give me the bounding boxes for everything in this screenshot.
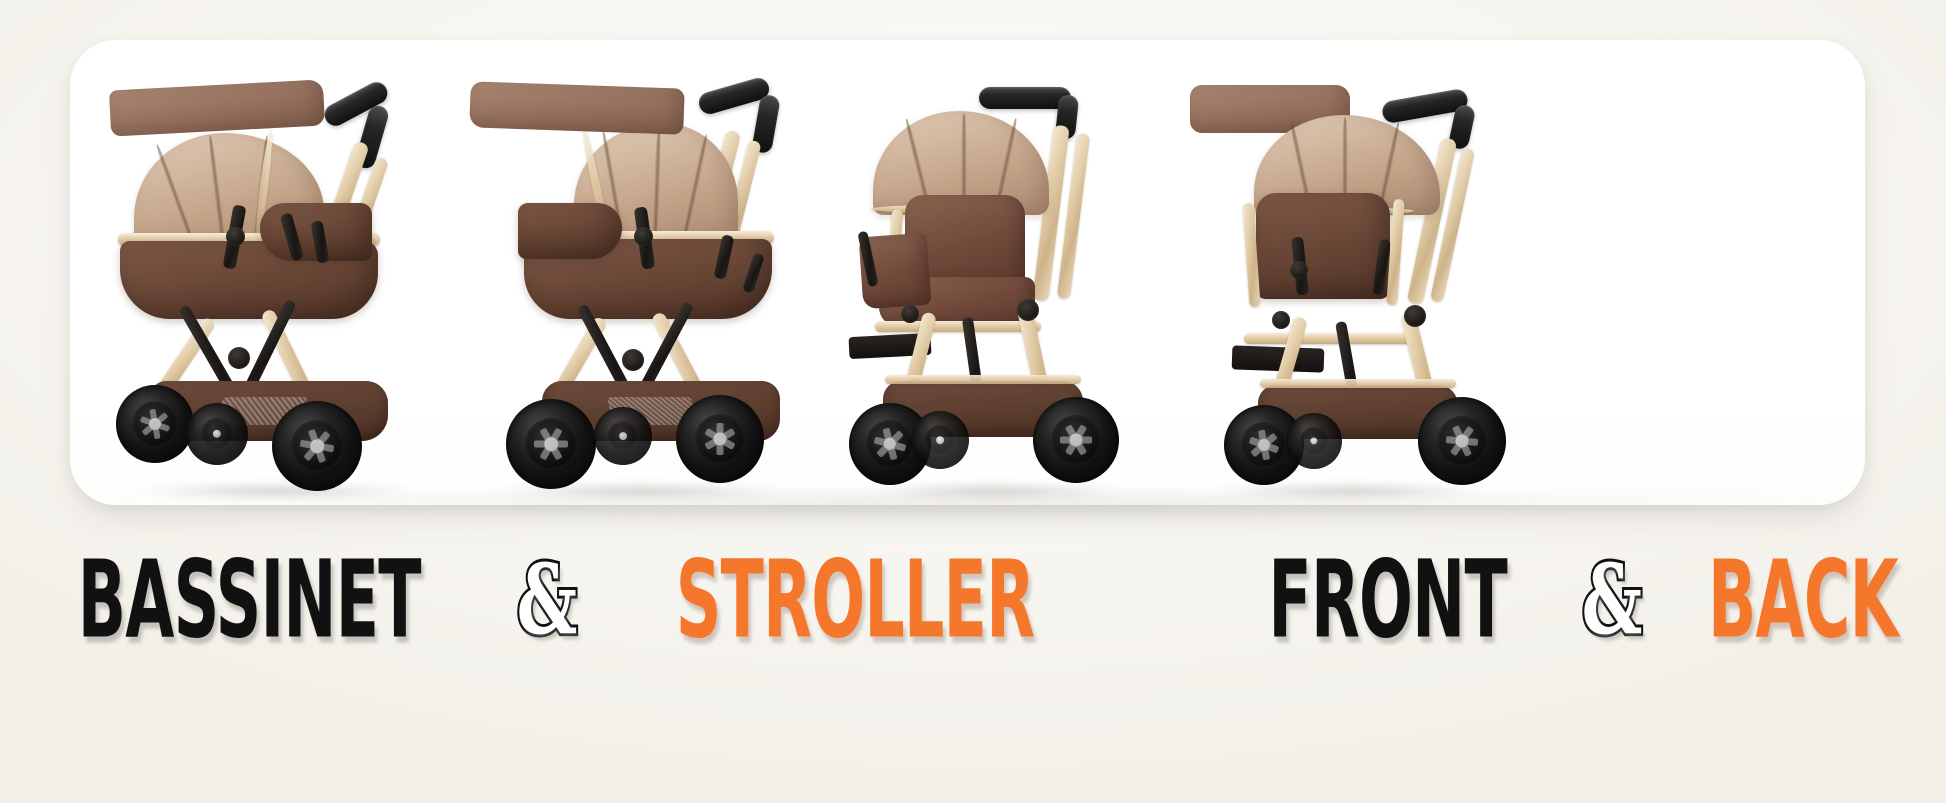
caption-ampersand: & <box>1582 543 1643 656</box>
floor-shadow <box>1216 483 1485 499</box>
wheel-rear-far <box>186 403 248 465</box>
caption-ampersand: & <box>516 543 577 656</box>
seat-trim <box>1244 333 1414 344</box>
stroller-view-3[interactable] <box>845 85 1145 505</box>
wheel-rear <box>1033 397 1119 483</box>
wheel-front-far <box>911 411 969 469</box>
basket-trim <box>1260 379 1456 388</box>
caption-row: BASSINET & STROLLER FRONT & BACK <box>0 520 1946 680</box>
caption-word-front: FRONT <box>1268 549 1507 651</box>
stroller-view-2[interactable] <box>470 85 810 505</box>
hardware-joint <box>634 227 653 246</box>
lower-seat-panel <box>109 79 325 136</box>
lower-seat-panel <box>469 81 684 134</box>
wheel-front-far <box>1286 413 1342 469</box>
hardware-joint <box>1404 305 1426 327</box>
hardware-joint <box>226 227 245 246</box>
basket-trim <box>885 375 1081 384</box>
wheel-rear <box>1418 397 1506 485</box>
hardware-joint <box>1272 311 1290 329</box>
caption-word-stroller: STROLLER <box>675 549 1034 651</box>
footrest <box>1232 345 1325 372</box>
wheel-front <box>272 401 362 491</box>
hardware-joint <box>1290 261 1308 279</box>
bassinet-footcover <box>518 203 622 259</box>
caption-group-1: BASSINET & STROLLER <box>11 552 1104 648</box>
hardware-joint <box>1017 299 1039 321</box>
wheel-rear <box>676 395 764 483</box>
stroller-view-1[interactable] <box>110 85 440 505</box>
hardware-joint <box>228 347 250 369</box>
stroller-view-4[interactable] <box>1190 85 1510 505</box>
seat-trim <box>875 321 1041 332</box>
floor-shadow <box>869 483 1121 499</box>
wheel-rear-far <box>594 407 652 465</box>
wheel-front <box>506 399 596 489</box>
caption-group-2: FRONT & BACK <box>1222 552 1935 648</box>
hardware-joint <box>901 305 919 323</box>
caption-word-back: BACK <box>1708 549 1898 651</box>
product-image-card <box>70 40 1865 505</box>
seat-back <box>1256 193 1390 299</box>
wheel-rear <box>116 385 194 463</box>
hardware-joint <box>622 349 644 371</box>
caption-word-bassinet: BASSINET <box>78 549 421 651</box>
floor-shadow <box>136 483 413 499</box>
